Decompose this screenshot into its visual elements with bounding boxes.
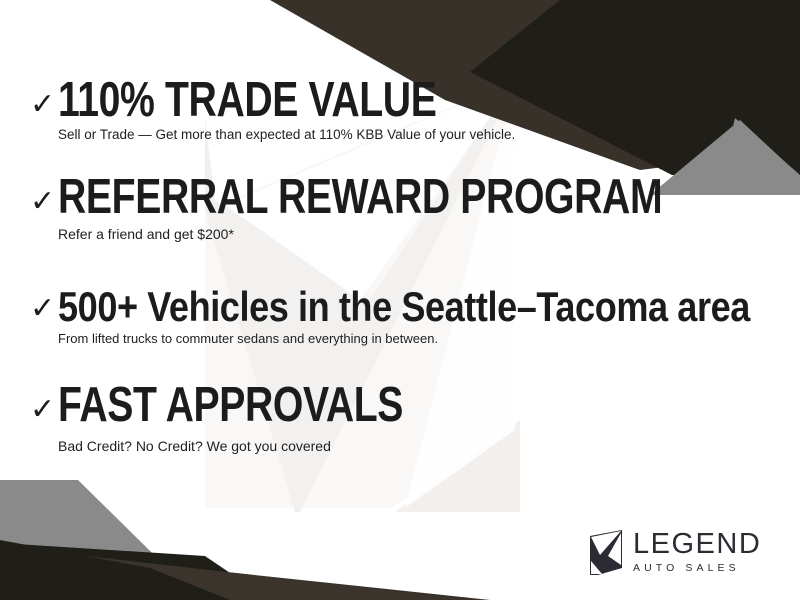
promo-banner: ✓ 110% TRADE VALUE Sell or Trade — Get m… bbox=[0, 0, 800, 600]
check-icon: ✓ bbox=[30, 395, 55, 425]
feature-subtext: Sell or Trade — Get more than expected a… bbox=[58, 127, 531, 143]
feature-item: ✓ FAST APPROVALS Bad Credit? No Credit? … bbox=[30, 383, 489, 455]
feature-list: ✓ 110% TRADE VALUE Sell or Trade — Get m… bbox=[0, 0, 800, 600]
feature-item: ✓ 500+ Vehicles in the Seattle–Tacoma ar… bbox=[30, 288, 800, 346]
feature-headline-text: 500+ Vehicles in the Seattle–Tacoma area bbox=[58, 288, 750, 327]
legend-swoosh-mark-icon bbox=[586, 528, 626, 576]
feature-headline-text: 110% TRADE VALUE bbox=[58, 78, 436, 123]
logo-name: LEGEND bbox=[633, 530, 761, 559]
feature-headline-text: REFERRAL REWARD PROGRAM bbox=[58, 175, 662, 220]
feature-item: ✓ REFERRAL REWARD PROGRAM Refer a friend… bbox=[30, 175, 800, 243]
feature-headline-text: FAST APPROVALS bbox=[58, 383, 403, 428]
check-icon: ✓ bbox=[30, 90, 55, 120]
brand-logo: LEGEND AUTO SALES bbox=[586, 524, 756, 580]
feature-subtext: Refer a friend and get $200* bbox=[58, 226, 800, 243]
feature-subtext: From lifted trucks to commuter sedans an… bbox=[58, 331, 800, 347]
feature-item: ✓ 110% TRADE VALUE Sell or Trade — Get m… bbox=[30, 78, 531, 143]
feature-subtext: Bad Credit? No Credit? We got you covere… bbox=[58, 438, 489, 455]
feature-headline: ✓ 500+ Vehicles in the Seattle–Tacoma ar… bbox=[30, 288, 800, 327]
feature-headline: ✓ 110% TRADE VALUE bbox=[30, 78, 531, 123]
check-icon: ✓ bbox=[30, 187, 55, 217]
check-icon: ✓ bbox=[30, 294, 55, 324]
logo-tagline: AUTO SALES bbox=[633, 563, 761, 574]
feature-headline: ✓ REFERRAL REWARD PROGRAM bbox=[30, 175, 800, 220]
feature-headline: ✓ FAST APPROVALS bbox=[30, 383, 489, 428]
logo-wordmark: LEGEND AUTO SALES bbox=[633, 530, 761, 574]
